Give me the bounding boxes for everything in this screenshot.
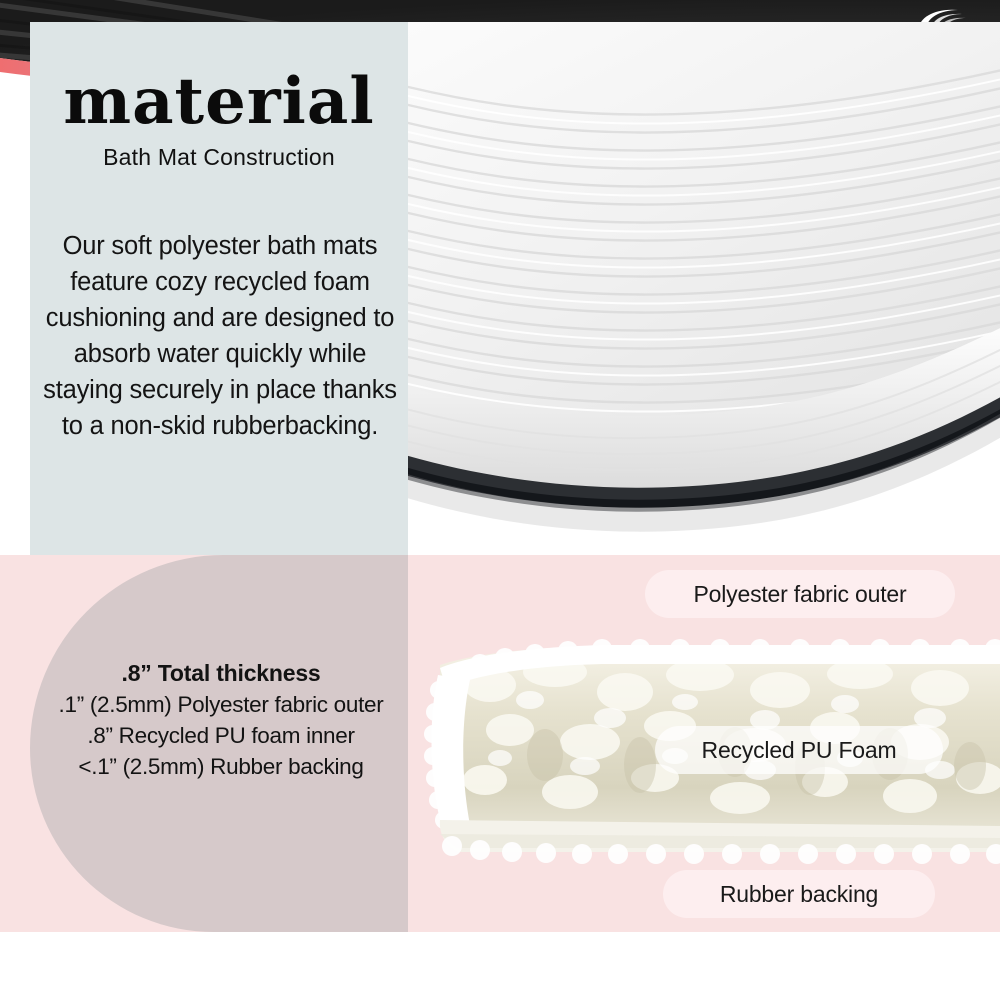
- callout-outer-label: Polyester fabric outer: [694, 581, 907, 608]
- callout-rubber-backing: Rubber backing: [663, 870, 935, 918]
- callout-foam-label: Recycled PU Foam: [702, 737, 897, 764]
- page-title: material: [30, 70, 408, 134]
- bath-mat-illustration: [408, 22, 1000, 555]
- callout-recycled-pu-foam: Recycled PU Foam: [655, 726, 943, 774]
- bath-mat-photo: [408, 22, 1000, 555]
- intro-paragraph: Our soft polyester bath mats feature coz…: [42, 228, 398, 444]
- callout-polyester-fabric-outer: Polyester fabric outer: [645, 570, 955, 618]
- callout-rubber-label: Rubber backing: [720, 881, 878, 908]
- page-subtitle: Bath Mat Construction: [30, 144, 408, 171]
- material-infographic-page: material Bath Mat Construction Our soft …: [0, 0, 1000, 1000]
